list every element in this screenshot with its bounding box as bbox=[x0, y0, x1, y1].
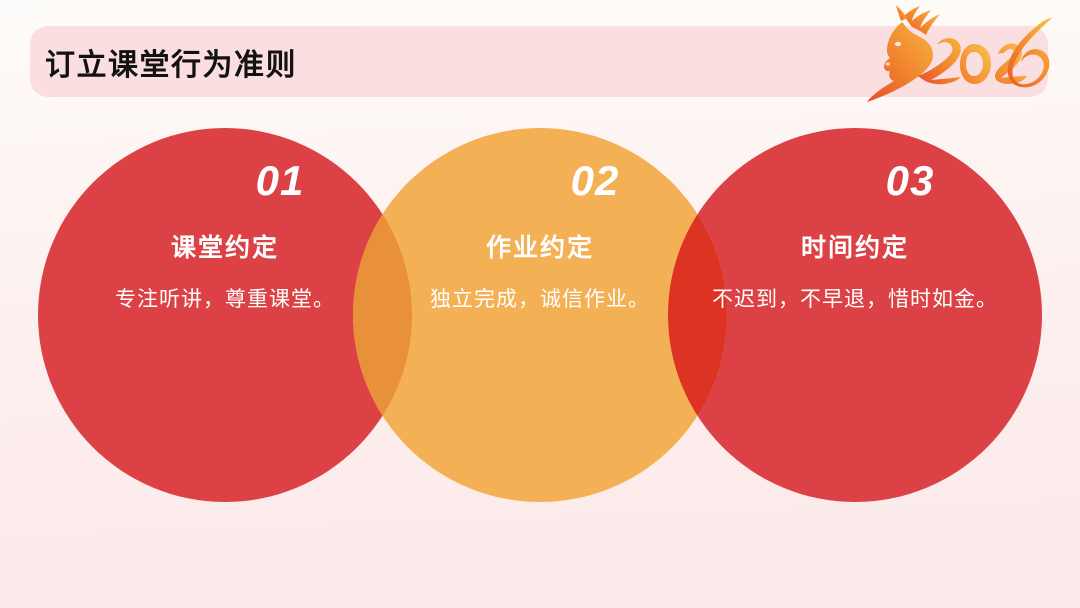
page-title: 订立课堂行为准则 bbox=[45, 26, 745, 97]
slide-canvas: 订立课堂行为准则 bbox=[0, 0, 1080, 608]
venn-diagram bbox=[0, 110, 1080, 520]
horse-head-icon bbox=[867, 5, 940, 102]
horse-2026-logo: 2026 bbox=[862, 2, 1058, 104]
digit-0 bbox=[960, 44, 991, 84]
